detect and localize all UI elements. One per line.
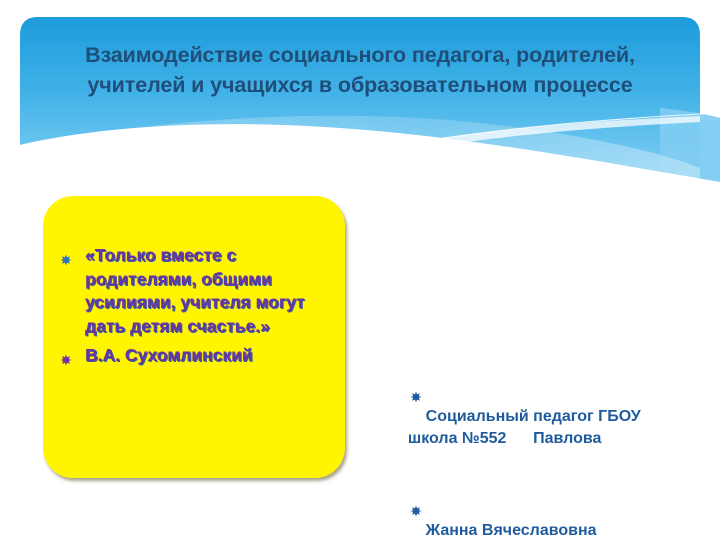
- author-list-item: Жанна Вячеславовна: [372, 476, 692, 540]
- star-bullet-icon: [60, 249, 72, 261]
- quote-bullet-list: «Только вместе с родителями, общими усил…: [57, 244, 335, 374]
- author-role-text: Социальный педагог ГБОУ школа №552 Павло…: [399, 408, 641, 447]
- star-bullet-icon: [374, 480, 386, 492]
- star-bullet-icon: [60, 349, 72, 361]
- quote-text: «Только вместе с родителями, общими усил…: [85, 245, 305, 336]
- author-name-text: Жанна Вячеславовна: [426, 522, 597, 539]
- author-list-item: Социальный педагог ГБОУ школа №552 Павло…: [372, 362, 692, 472]
- header-decoration-graphic: [0, 0, 720, 186]
- quote-attribution-text: В.А. Сухомлинский: [85, 345, 253, 365]
- quote-card[interactable]: «Только вместе с родителями, общими усил…: [43, 196, 345, 478]
- slide-header-banner: Взаимодействие социального педагога, род…: [0, 0, 720, 186]
- presentation-slide: Взаимодействие социального педагога, род…: [0, 0, 720, 540]
- quote-list-item: «Только вместе с родителями, общими усил…: [57, 244, 335, 338]
- star-bullet-icon: [374, 366, 386, 378]
- author-bullet-list: Социальный педагог ГБОУ школа №552 Павло…: [372, 362, 692, 540]
- quote-list-item: В.А. Сухомлинский: [57, 344, 335, 368]
